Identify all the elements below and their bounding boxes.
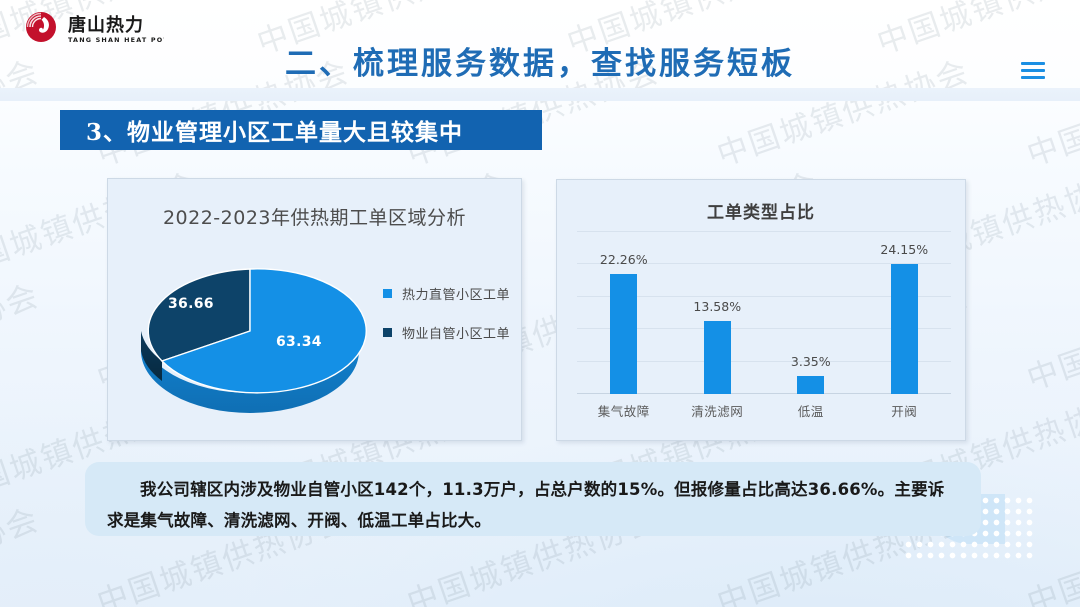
- header-band: [0, 88, 1080, 101]
- bar-value-label: 24.15%: [880, 242, 928, 257]
- legend-swatch-icon: [383, 289, 392, 298]
- x-axis-category-label: 开阀: [891, 401, 917, 420]
- pie-slice-label-property: 36.66: [168, 296, 214, 312]
- pie-chart-title: 2022-2023年供热期工单区域分析: [108, 203, 521, 230]
- pie-chart-legend: 热力直管小区工单 物业自管小区工单: [383, 284, 510, 362]
- legend-swatch-icon: [383, 328, 392, 337]
- x-axis-category-label: 清洗滤网: [691, 401, 743, 420]
- svg-text:唐山热力: 唐山热力: [68, 14, 144, 36]
- bar-value-label: 3.35%: [791, 354, 831, 369]
- company-logo: 唐山热力 TANG SHAN HEAT POWER: [24, 8, 164, 52]
- watermark-text: 中国城镇供热协会: [1020, 270, 1080, 398]
- summary-callout-box: 我公司辖区内涉及物业自管小区142个，11.3万户，占总户数的15%。但报修量占…: [85, 462, 981, 536]
- x-axis-category-label: 低温: [798, 401, 824, 420]
- bar-chart-panel: 工单类型占比 22.26%集气故障13.58%清洗滤网3.35%低温24.15%…: [556, 179, 966, 441]
- slide-canvas: 中国城镇供热协会中国城镇供热协会中国城镇供热协会中国城镇供热协会中国城镇供热协会…: [0, 0, 1080, 607]
- pie-chart-panel: 2022-2023年供热期工单区域分析 63.: [107, 178, 522, 441]
- legend-label: 热力直管小区工单: [402, 284, 510, 303]
- bar-value-label: 22.26%: [600, 252, 648, 267]
- bar-value-label: 13.58%: [693, 299, 741, 314]
- legend-item-property: 物业自管小区工单: [383, 323, 510, 342]
- gridline: [577, 231, 951, 232]
- bar-chart-title: 工单类型占比: [557, 198, 965, 223]
- pie-slice-label-direct: 63.34: [276, 334, 322, 350]
- bar-清洗滤网: [704, 321, 731, 394]
- pie-chart-graphic: 63.34 36.66: [126, 239, 374, 424]
- legend-item-direct: 热力直管小区工单: [383, 284, 510, 303]
- section-banner-label: 3、物业管理小区工单量大且较集中: [60, 113, 463, 147]
- bar-开阀: [891, 264, 918, 394]
- legend-label: 物业自管小区工单: [402, 323, 510, 342]
- hamburger-menu-icon[interactable]: [1021, 62, 1045, 79]
- watermark-text: 中国城镇供热协会: [0, 270, 44, 398]
- bar-chart-plot: 22.26%集气故障13.58%清洗滤网3.35%低温24.15%开阀: [577, 232, 951, 394]
- svg-text:TANG SHAN HEAT POWER: TANG SHAN HEAT POWER: [68, 36, 164, 44]
- section-banner: 3、物业管理小区工单量大且较集中: [60, 110, 542, 150]
- watermark-text: 中国城镇供热协会: [0, 494, 44, 607]
- bar-低温: [797, 376, 824, 394]
- bar-集气故障: [610, 274, 637, 394]
- x-axis-category-label: 集气故障: [598, 401, 650, 420]
- summary-text: 我公司辖区内涉及物业自管小区142个，11.3万户，占总户数的15%。但报修量占…: [107, 474, 959, 536]
